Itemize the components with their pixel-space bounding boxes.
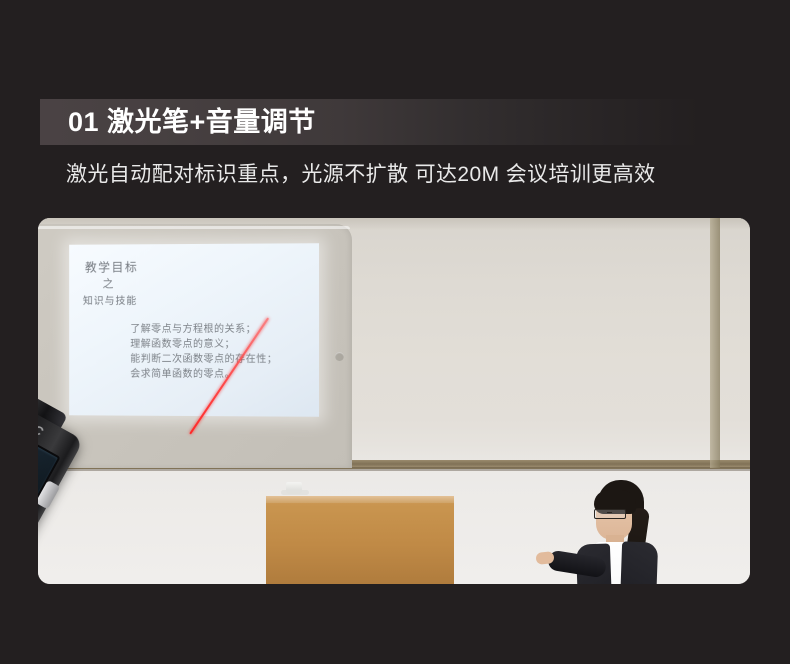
slide-subtitle: 知识与技能 [83, 292, 137, 307]
slide-bullet: 理解函数零点的意义； [130, 337, 277, 352]
wooden-podium [266, 496, 454, 584]
paper-cup [286, 482, 302, 494]
projection-whiteboard: 教学目标 之 知识与技能 了解零点与方程根的关系； 理解函数零点的意义； 能判断… [38, 224, 352, 468]
board-sensor-dot [335, 352, 344, 361]
glasses-icon [594, 509, 626, 519]
slide-title: 教学目标 [85, 258, 138, 275]
slide-connector: 之 [103, 275, 114, 291]
slide-bullet: 能判断二次函数零点的存在性； [130, 352, 277, 367]
presenter-jacket-right [618, 541, 658, 584]
page-title: 01 激光笔+音量调节 [68, 102, 316, 142]
slide-bullet: 会求简单函数的零点。 [130, 367, 277, 382]
page-subtitle: 激光自动配对标识重点，光源不扩散 可达20M 会议培训更高效 [66, 158, 656, 188]
slide-bullet-list: 了解零点与方程根的关系； 理解函数零点的意义； 能判断二次函数零点的存在性； 会… [130, 322, 277, 382]
female-presenter [558, 480, 688, 584]
feature-photo: 教学目标 之 知识与技能 了解零点与方程根的关系； 理解函数零点的意义； 能判断… [38, 218, 750, 584]
board-frame-right-edge [710, 218, 720, 468]
projected-slide: 教学目标 之 知识与技能 了解零点与方程根的关系； 理解函数零点的意义； 能判断… [69, 243, 319, 417]
podium-top-surface [266, 496, 454, 503]
